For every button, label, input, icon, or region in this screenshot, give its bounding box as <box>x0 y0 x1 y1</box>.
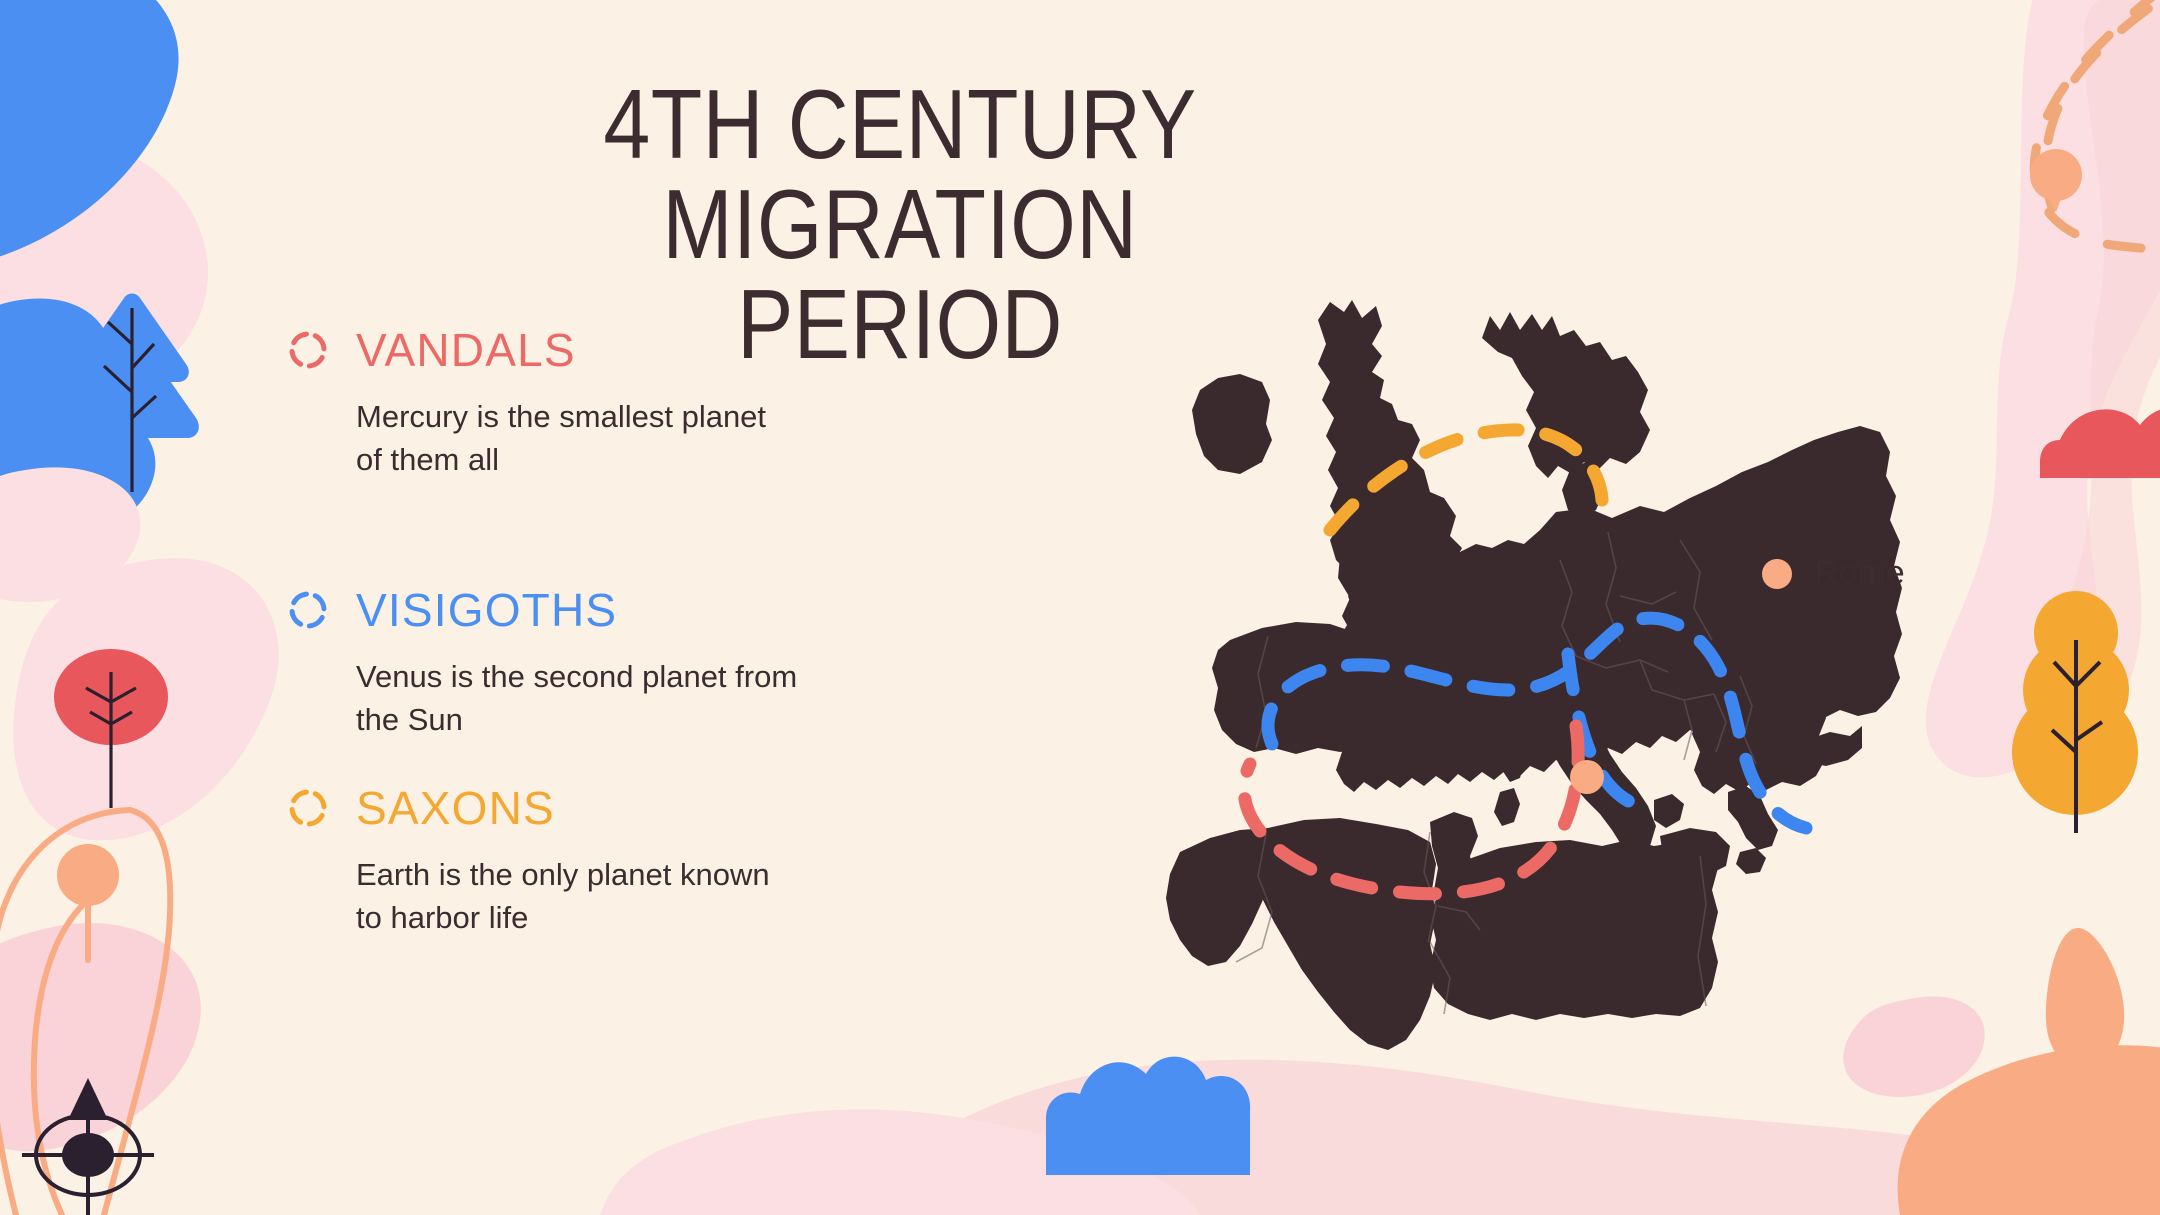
section-saxons-header: SAXONS <box>286 778 966 838</box>
section-saxons-body: Earth is the only planet known to harbor… <box>356 854 966 940</box>
dashed-circle-icon <box>286 588 330 632</box>
section-saxons-title: SAXONS <box>356 785 555 831</box>
section-saxons: SAXONS Earth is the only planet known to… <box>286 778 966 940</box>
rome-legend-label: Rome <box>1814 554 1905 593</box>
map-legend: Rome <box>1762 554 1905 593</box>
rome-legend-dot-icon <box>1762 559 1792 589</box>
dashed-circle-icon <box>286 786 330 830</box>
section-vandals-header: VANDALS <box>286 320 966 380</box>
section-vandals-title: VANDALS <box>356 327 576 373</box>
section-visigoths-body: Venus is the second planet from the Sun <box>356 656 966 742</box>
section-vandals-body: Mercury is the smallest planet of them a… <box>356 396 966 482</box>
section-vandals: VANDALS Mercury is the smallest planet o… <box>286 320 966 482</box>
dashed-circle-icon <box>286 328 330 372</box>
slide-canvas: 4TH CENTURY MIGRATION PERIOD VANDALS Mer… <box>0 0 2160 1215</box>
section-visigoths-header: VISIGOTHS <box>286 580 966 640</box>
section-visigoths-title: VISIGOTHS <box>356 587 617 633</box>
section-visigoths: VISIGOTHS Venus is the second planet fro… <box>286 580 966 742</box>
